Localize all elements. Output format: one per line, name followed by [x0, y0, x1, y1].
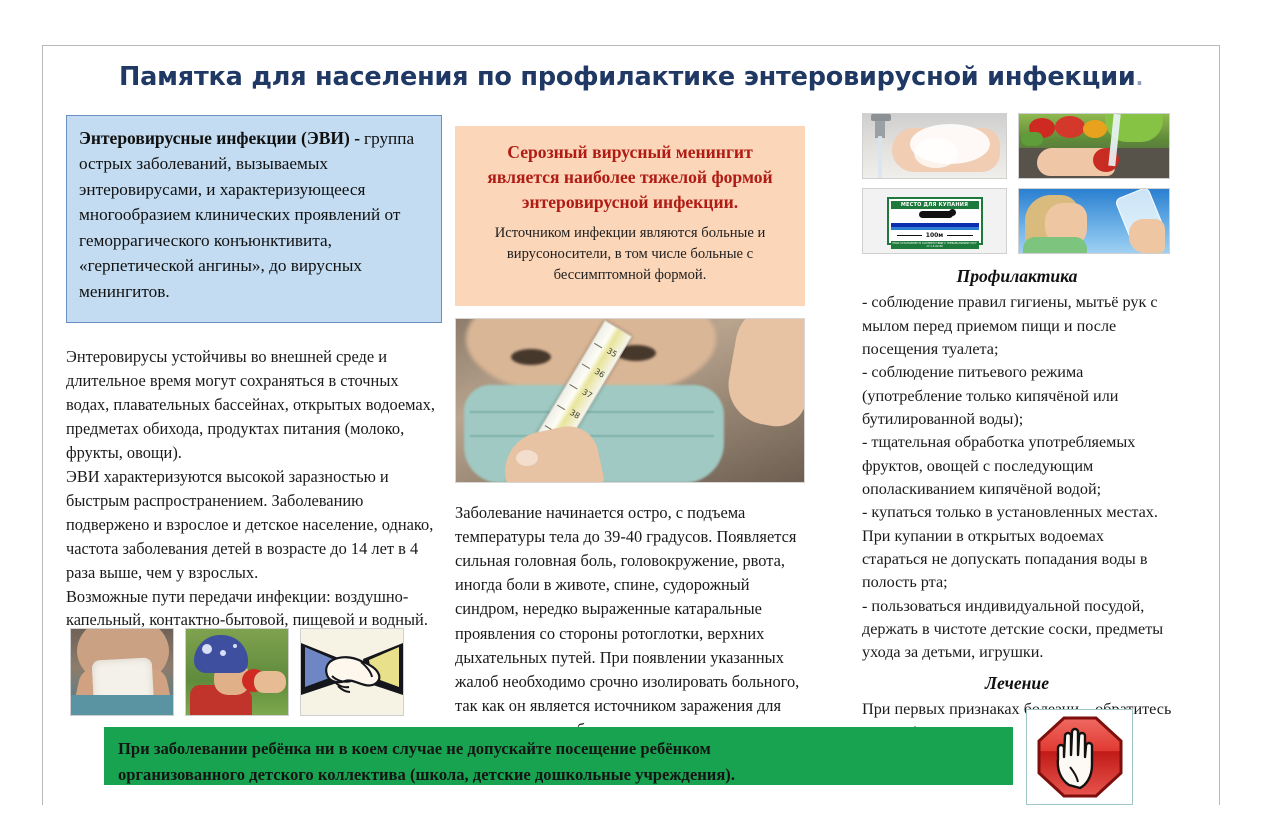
left-paragraph-1: Энтеровирусы устойчивы во внешней среде … — [66, 345, 442, 465]
sign-distance-row: 100м — [891, 230, 979, 241]
sign-footnote: ЗНАК УСТАНОВЛЕН В СООТВЕТСТВИИ С ТРЕБОВА… — [891, 241, 979, 249]
handshake-illustration — [300, 628, 404, 716]
child-eating-apple-photo — [185, 628, 289, 716]
washing-vegetables-photo — [1018, 113, 1170, 179]
thermometer-scale-36: 36 — [593, 367, 606, 380]
page-title-trailing-dot: . — [1136, 66, 1143, 90]
prevention-heading: Профилактика — [862, 264, 1172, 289]
left-body-text: Энтеровирусы устойчивы во внешней среде … — [66, 345, 442, 632]
woman-drinking-bottled-water-photo — [1018, 188, 1170, 254]
warning-banner-line-1: При заболевании ребёнка ни в коем случае… — [118, 736, 999, 762]
prevention-item-3: - тщательная обработка употребляемых фру… — [862, 431, 1172, 501]
meningitis-callout-box: Серозный вирусный менингит является наиб… — [455, 126, 805, 306]
sign-distance: 100м — [922, 232, 947, 239]
meningitis-subtext: Источником инфекции являются больные и в… — [471, 223, 789, 286]
prevention-item-4: - купаться только в установленных местах… — [862, 501, 1172, 594]
treatment-heading: Лечение — [862, 671, 1172, 696]
page-title: Памятка для населения по профилактике эн… — [42, 62, 1220, 92]
swimmer-icon — [891, 209, 979, 223]
sneezing-into-tissue-photo — [70, 628, 174, 716]
left-paragraph-3: Возможные пути передачи инфекции: воздуш… — [66, 585, 442, 633]
left-paragraph-2: ЭВИ характеризуются высокой заразностью … — [66, 465, 442, 585]
left-column: Энтеровирусные инфекции (ЭВИ) - группа о… — [66, 115, 442, 632]
sign-title: МЕСТО ДЛЯ КУПАНИЯ — [891, 201, 979, 209]
prevention-item-2: - соблюдение питьевого режима (употребле… — [862, 361, 1172, 431]
transmission-photo-strip — [70, 628, 406, 716]
definition-lead: Энтеровирусные инфекции (ЭВИ) - — [79, 128, 360, 148]
swimming-area-sign-board: МЕСТО ДЛЯ КУПАНИЯ 100м ЗНАК УСТАНОВЛЕН В… — [887, 197, 983, 245]
middle-column: Серозный вирусный менингит является наиб… — [455, 126, 805, 742]
thermometer-scale-35: 35 — [605, 346, 618, 359]
definition-callout-box: Энтеровирусные инфекции (ЭВИ) - группа о… — [66, 115, 442, 323]
warning-banner-line-2: организованного детского коллектива (шко… — [118, 762, 999, 788]
meningitis-heading: Серозный вирусный менингит является наиб… — [471, 140, 789, 215]
thermometer-scale-37: 37 — [580, 387, 593, 400]
woman-in-mask-with-thermometer-photo: 35 36 37 38 39 40 41 42 — [455, 318, 805, 483]
swimming-area-sign-photo: МЕСТО ДЛЯ КУПАНИЯ 100м ЗНАК УСТАНОВЛЕН В… — [862, 188, 1007, 254]
stop-sign-graphic — [1026, 709, 1133, 805]
washing-hands-with-soap-photo — [862, 113, 1007, 179]
stop-hand-icon — [1036, 715, 1124, 799]
page-title-text: Памятка для населения по профилактике эн… — [119, 62, 1136, 92]
right-column: МЕСТО ДЛЯ КУПАНИЯ 100м ЗНАК УСТАНОВЛЕН В… — [862, 113, 1172, 745]
definition-body: группа острых заболеваний, вызываемых эн… — [79, 129, 414, 301]
warning-banner: При заболевании ребёнка ни в коем случае… — [104, 727, 1013, 785]
prevention-item-5: - пользоваться индивидуальной посудой, д… — [862, 595, 1172, 665]
thermometer-scale-38: 38 — [568, 408, 581, 421]
prevention-item-1: - соблюдение правил гигиены, мытьё рук с… — [862, 291, 1172, 361]
prevention-photo-grid: МЕСТО ДЛЯ КУПАНИЯ 100м ЗНАК УСТАНОВЛЕН В… — [862, 113, 1172, 254]
symptoms-paragraph: Заболевание начинается остро, с подъема … — [455, 501, 805, 742]
middle-body-text: Заболевание начинается остро, с подъема … — [455, 501, 805, 742]
right-body-text: Профилактика - соблюдение правил гигиены… — [862, 264, 1172, 745]
